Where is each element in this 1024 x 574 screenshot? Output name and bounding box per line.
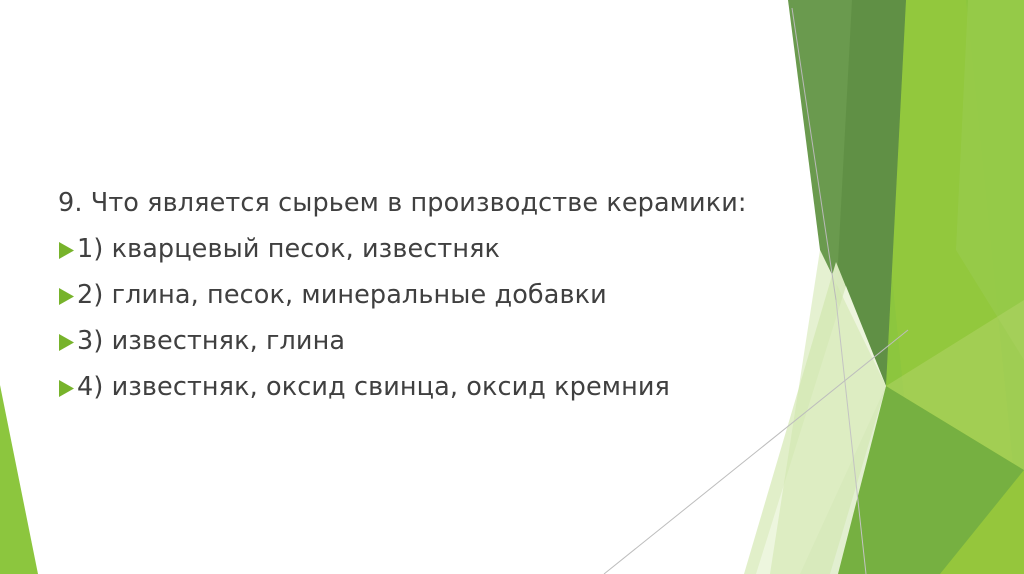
decor-shape-light-right-band: [956, 0, 1024, 360]
question-text: 9. Что является сырьем в производстве ке…: [58, 186, 778, 220]
answer-option-label: 1) кварцевый песок, известняк: [77, 230, 500, 268]
play-triangle-icon: [58, 276, 76, 314]
play-triangle-icon: [58, 322, 76, 360]
decor-shape-bottom-left-triangle: [0, 385, 38, 574]
decor-hairline-upper: [792, 8, 836, 300]
play-triangle-icon: [58, 230, 76, 268]
play-triangle-icon: [58, 368, 76, 406]
decor-shape-pale-left-wedge: [770, 250, 886, 574]
answer-option-label: 2) глина, песок, минеральные добавки: [77, 276, 607, 314]
decor-shape-translucent-overlay: [886, 0, 1024, 386]
answer-options-list: 1) кварцевый песок, известняк 2) глина, …: [58, 230, 778, 406]
answer-option-4[interactable]: 4) известняк, оксид свинца, оксид кремни…: [58, 368, 778, 406]
answer-option-label: 4) известняк, оксид свинца, оксид кремни…: [77, 368, 670, 406]
decor-shape-deep-green-wedge: [836, 0, 906, 386]
decor-shape-light-fan-right: [886, 300, 1024, 470]
slide-text-block: 9. Что является сырьем в производстве ке…: [58, 186, 778, 414]
answer-option-2[interactable]: 2) глина, песок, минеральные добавки: [58, 276, 778, 314]
answer-option-3[interactable]: 3) известняк, глина: [58, 322, 778, 360]
answer-option-1[interactable]: 1) кварцевый песок, известняк: [58, 230, 778, 268]
answer-option-label: 3) известняк, глина: [77, 322, 345, 360]
decor-shape-bottom-lime-accent: [940, 470, 1024, 574]
decor-shape-lime-wedge: [864, 0, 1024, 574]
slide-canvas: 9. Что является сырьем в производстве ке…: [0, 0, 1024, 574]
decor-hairline-upper-lower: [836, 300, 866, 574]
decor-shape-mid-green-lower: [790, 386, 1024, 574]
decor-shape-dark-diagonal: [788, 0, 906, 386]
decor-shape-base-right: [820, 0, 1024, 574]
